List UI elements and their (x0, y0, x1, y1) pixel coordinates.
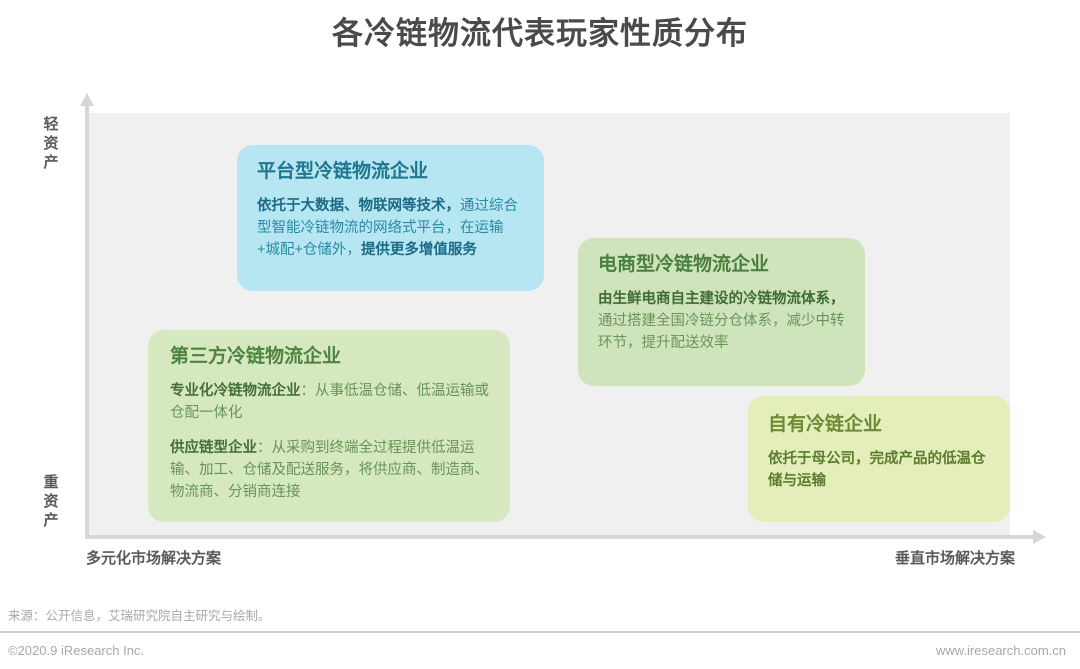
card-ecommerce-cold-chain: 电商型冷链物流企业 由生鲜电商自主建设的冷链物流体系，通过搭建全国冷链分仓体系，… (578, 238, 865, 386)
card-body-bold-1: 由生鲜电商自主建设的冷链物流体系， (598, 291, 845, 307)
card-body-paragraph-1: 专业化冷链物流企业：从事低温仓储、低温运输或仓配一体化 (170, 380, 490, 424)
card-body-bold-1: 专业化冷链物流企业 (170, 383, 301, 399)
x-axis-label-left: 多元化市场解决方案 (86, 549, 221, 569)
x-axis-label-right: 垂直市场解决方案 (895, 549, 1015, 569)
card-body-bold-2: 供应链型企业 (170, 440, 257, 456)
footer-divider (0, 631, 1080, 633)
y-axis-line (85, 105, 89, 539)
source-note: 来源：公开信息，艾瑞研究院自主研究与绘制。 (8, 607, 271, 625)
y-axis-label-bottom: 重资产 (40, 473, 62, 530)
card-title: 第三方冷链物流企业 (170, 344, 490, 370)
card-own-cold-chain: 自有冷链企业 依托于母公司，完成产品的低温仓储与运输 (748, 396, 1010, 522)
card-body-paragraph-2: 供应链型企业：从采购到终端全过程提供低温运输、加工、仓储及配送服务，将供应商、制… (170, 437, 490, 503)
card-body-normal-1: 通过搭建全国冷链分仓体系，减少中转环节，提升配送效率 (598, 313, 845, 351)
card-body-bold-1: 依托于母公司，完成产品的低温仓储与运输 (768, 451, 986, 489)
website-url: www.iresearch.com.cn (936, 641, 1066, 661)
y-axis-label-top: 轻资产 (40, 115, 62, 172)
card-third-party-cold-chain: 第三方冷链物流企业 专业化冷链物流企业：从事低温仓储、低温运输或仓配一体化 供应… (148, 330, 510, 522)
card-title: 自有冷链企业 (768, 412, 992, 438)
card-title: 电商型冷链物流企业 (598, 252, 847, 278)
x-axis-line (85, 535, 1035, 539)
copyright-text: ©2020.9 iResearch Inc. (8, 641, 144, 661)
card-body-bold-2: 提供更多增值服务 (361, 242, 477, 258)
card-body: 依托于大数据、物联网等技术，通过综合型智能冷链物流的网络式平台，在运输+城配+仓… (257, 195, 526, 261)
y-axis-arrow-icon (80, 93, 94, 106)
card-platform-cold-chain: 平台型冷链物流企业 依托于大数据、物联网等技术，通过综合型智能冷链物流的网络式平… (237, 145, 544, 291)
page-title: 各冷链物流代表玩家性质分布 (0, 14, 1080, 54)
card-body-bold-1: 依托于大数据、物联网等技术， (257, 198, 460, 214)
card-body: 依托于母公司，完成产品的低温仓储与运输 (768, 448, 992, 492)
card-title: 平台型冷链物流企业 (257, 159, 526, 185)
x-axis-arrow-icon (1033, 530, 1046, 544)
card-body: 由生鲜电商自主建设的冷链物流体系，通过搭建全国冷链分仓体系，减少中转环节，提升配… (598, 288, 847, 354)
